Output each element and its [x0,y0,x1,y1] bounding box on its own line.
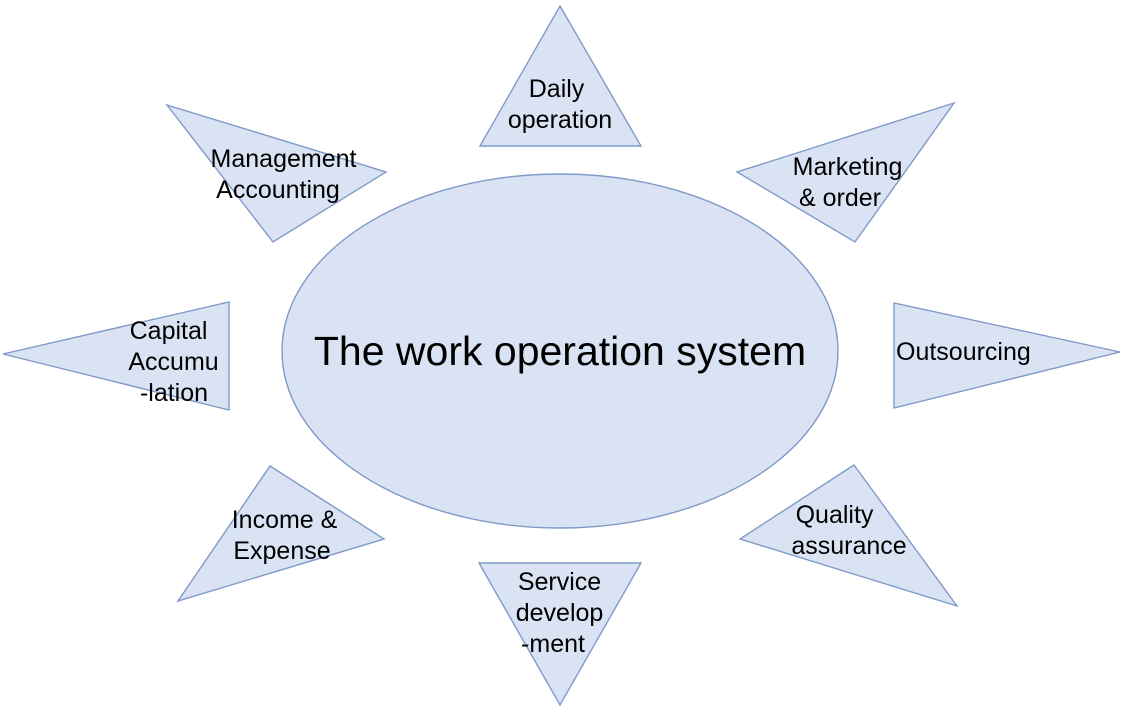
label-line: Accumu [128,348,218,376]
node-outsourcing[interactable]: Outsourcing [894,303,1120,408]
node-capital-accumulation[interactable]: Capital Accumu -lation [3,302,229,410]
label-line: Expense [233,537,330,565]
label-line: operation [508,106,612,134]
label-line: Accounting [216,176,340,204]
node-marketing-order[interactable]: Marketing & order [737,103,954,242]
label-outsourcing: Outsourcing [896,338,1031,366]
label-line: Daily [529,75,585,103]
label-line: assurance [791,532,906,560]
node-quality-assurance[interactable]: Quality assurance [740,465,957,606]
label-line: Outsourcing [896,338,1031,366]
label-line: Capital [130,317,208,345]
diagram-root: Daily operation Management Accounting Ma… [0,0,1122,710]
triangle-management-accounting[interactable] [167,105,386,242]
label-line: Management [211,145,357,173]
node-service-development[interactable]: Service develop -ment [479,563,641,705]
center-node[interactable]: The work operation system [282,174,838,528]
label-line: Quality [796,501,874,529]
label-line: Income & [232,506,338,534]
node-income-expense[interactable]: Income & Expense [178,466,384,601]
label-line: & order [799,184,881,212]
work-operation-system-diagram: Daily operation Management Accounting Ma… [0,0,1122,710]
center-label: The work operation system [314,328,806,374]
label-line: Service [518,568,601,596]
node-daily-operation[interactable]: Daily operation [480,6,641,146]
label-service-development: Service develop -ment [516,568,611,658]
label-line: develop [516,599,604,627]
label-line: Marketing [793,153,903,181]
label-line: -lation [140,379,208,407]
label-line: -ment [521,630,585,658]
node-management-accounting[interactable]: Management Accounting [167,105,386,242]
